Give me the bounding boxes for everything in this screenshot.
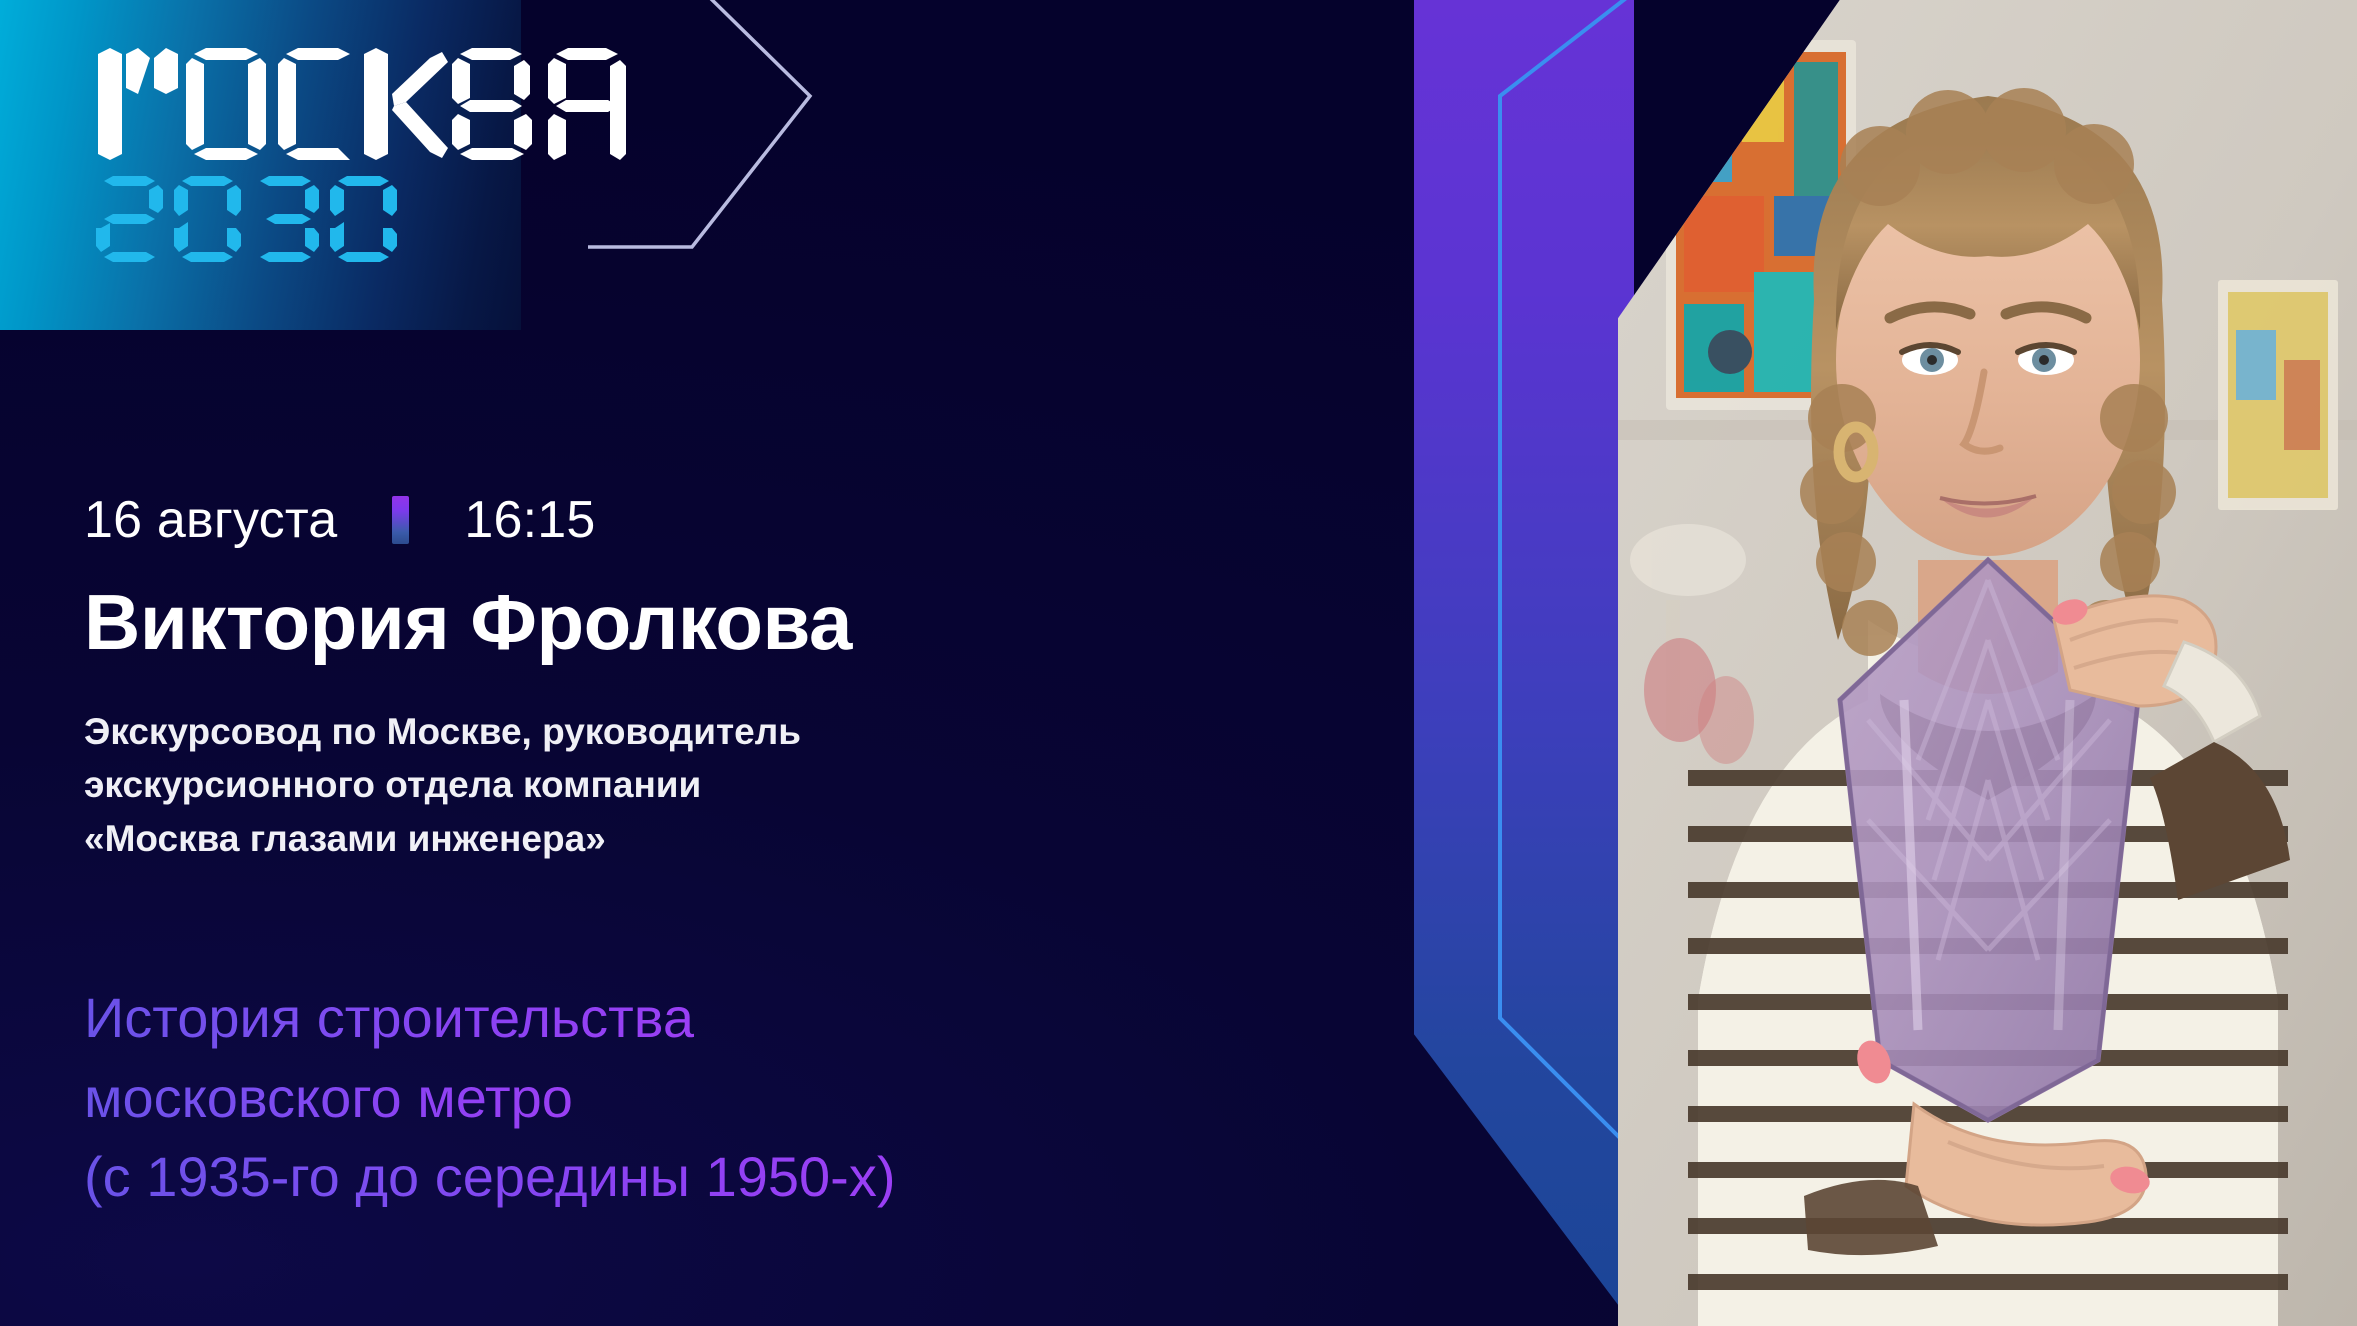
presentation-slide: 16 августа 16:15 Виктория Фролкова Экску… xyxy=(0,0,2357,1326)
speaker-role-line-3: «Москва глазами инженера» xyxy=(84,812,1044,865)
speaker-photo xyxy=(1618,0,2357,1326)
decorative-gradient-band xyxy=(1414,0,1634,1326)
talk-title: История строительства московского метро … xyxy=(84,978,1244,1217)
speaker-role-line-2: экскурсионного отдела компании xyxy=(84,758,1044,811)
talk-title-line-1: История строительства xyxy=(84,978,694,1058)
speaker-role: Экскурсовод по Москве, руководитель экск… xyxy=(84,705,1044,865)
slide-content: 16 августа 16:15 Виктория Фролкова Экску… xyxy=(84,0,1334,1326)
talk-title-line-2: московского метро xyxy=(84,1058,573,1138)
event-meta-row: 16 августа 16:15 xyxy=(84,480,596,560)
event-time: 16:15 xyxy=(464,494,595,546)
speaker-role-line-1: Экскурсовод по Москве, руководитель xyxy=(84,705,1044,758)
talk-title-line-3: (с 1935-го до середины 1950-х) xyxy=(84,1137,895,1217)
meta-separator-bar xyxy=(392,496,409,544)
band-shape xyxy=(1414,0,1634,1326)
speaker-name: Виктория Фролкова xyxy=(84,583,852,661)
event-date: 16 августа xyxy=(84,494,337,546)
